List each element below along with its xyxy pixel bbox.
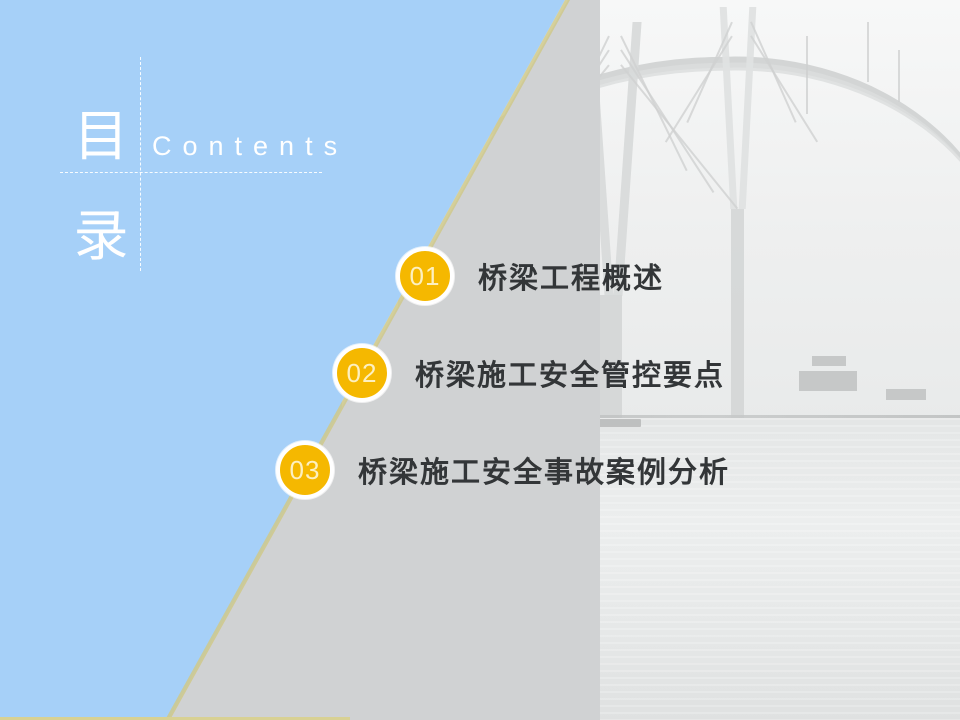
divider-vertical-dashed [140,57,141,271]
slide-canvas: 目 录 Contents 01 桥梁工程概述 02 桥梁施工安全管控要点 03 … [0,0,960,720]
contents-heading: 目 录 Contents [0,0,360,300]
toc-item-01[interactable]: 01 桥梁工程概述 [396,247,664,305]
shore-building [886,389,926,400]
crane-mast [898,50,900,102]
bridge-pier [731,209,744,418]
page-title-cn: 目 录 [66,86,136,286]
toc-number-badge[interactable]: 01 [396,247,454,305]
toc-number-badge[interactable]: 02 [333,344,391,402]
crane-mast [867,22,869,82]
page-title-en: Contents [152,131,348,162]
toc-item-03[interactable]: 03 桥梁施工安全事故案例分析 [276,441,730,499]
shore-building [799,371,857,391]
toc-item-label[interactable]: 桥梁施工安全事故案例分析 [358,449,730,491]
page-title-cn-char-2: 录 [66,186,136,286]
crane-mast [806,36,808,114]
toc-number-badge[interactable]: 03 [276,441,334,499]
toc-item-02[interactable]: 02 桥梁施工安全管控要点 [333,344,725,402]
page-title-cn-char-1: 目 [66,86,136,186]
toc-item-label[interactable]: 桥梁工程概述 [478,255,664,297]
shore-building [812,356,846,366]
toc-item-label[interactable]: 桥梁施工安全管控要点 [415,352,725,394]
